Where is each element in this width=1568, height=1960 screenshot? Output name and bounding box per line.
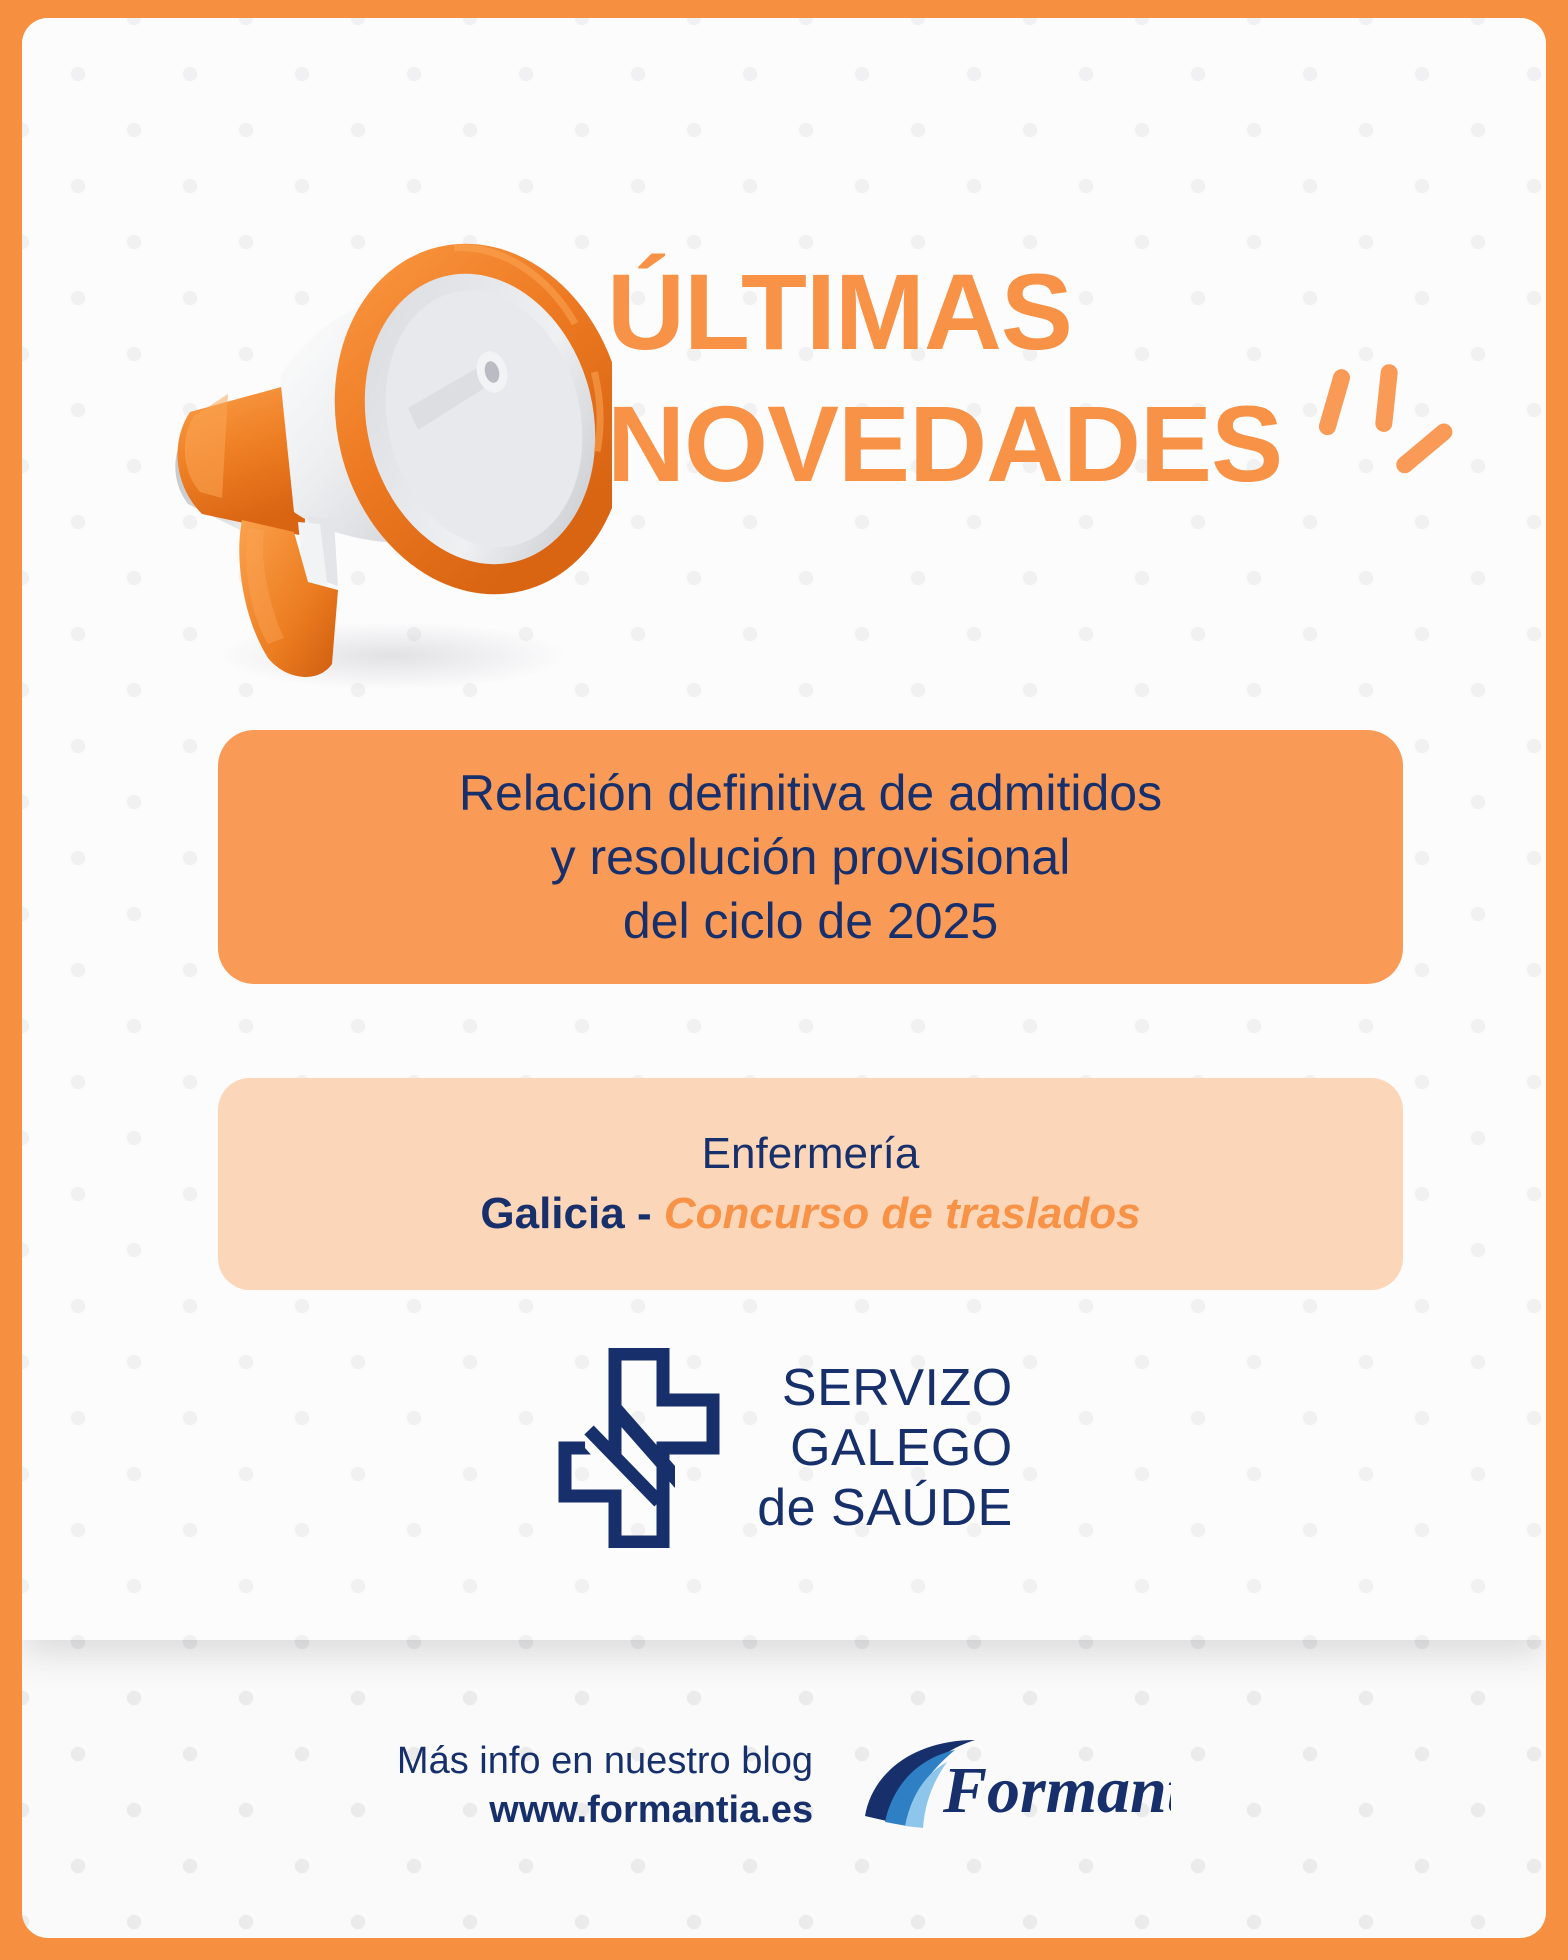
website-url[interactable]: www.formantia.es xyxy=(397,1786,813,1835)
poster-card: ÚLTIMAS NOVEDADES Relación definitiva de… xyxy=(22,18,1546,1938)
banner-line-1: Relación definitiva de admitidos xyxy=(459,761,1162,825)
announcement-text: Relación definitiva de admitidos y resol… xyxy=(419,761,1202,953)
footer-text: Más info en nuestro blog www.formantia.e… xyxy=(397,1737,813,1836)
headline-line-1: ÚLTIMAS xyxy=(607,246,1367,378)
megaphone-icon xyxy=(162,186,612,691)
sergas-cross-icon xyxy=(555,1348,723,1548)
svg-text:Formantia: Formantia xyxy=(942,1754,1171,1827)
formantia-swoosh-logo: Formantia xyxy=(859,1730,1171,1842)
banner-line-3: del ciclo de 2025 xyxy=(459,889,1162,953)
sergas-line-1: SERVIZO xyxy=(757,1358,1012,1418)
page-title: ÚLTIMAS NOVEDADES xyxy=(607,246,1367,510)
hero-section: ÚLTIMAS NOVEDADES xyxy=(22,18,1546,708)
process-label: Concurso de traslados xyxy=(664,1189,1141,1238)
sergas-line-2: GALEGO xyxy=(757,1418,1012,1478)
headline-line-2: NOVEDADES xyxy=(607,378,1367,510)
sergas-logo: SERVIZO GALEGO de SAÚDE xyxy=(22,1348,1546,1548)
sergas-wordmark: SERVIZO GALEGO de SAÚDE xyxy=(757,1358,1012,1539)
footer: Más info en nuestro blog www.formantia.e… xyxy=(22,1730,1546,1842)
poster: ÚLTIMAS NOVEDADES Relación definitiva de… xyxy=(0,0,1568,1960)
region-label: Galicia xyxy=(480,1189,624,1238)
banner-line-2: y resolución provisional xyxy=(459,825,1162,889)
region-process-line: Galicia - Concurso de traslados xyxy=(480,1189,1140,1239)
separator-dash: - xyxy=(637,1189,652,1238)
announcement-banner: Relación definitiva de admitidos y resol… xyxy=(218,730,1403,984)
sergas-line-3: de SAÚDE xyxy=(757,1478,1012,1538)
blog-label: Más info en nuestro blog xyxy=(397,1737,813,1786)
details-box: Enfermería Galicia - Concurso de traslad… xyxy=(218,1078,1403,1290)
sparkle-lines-icon xyxy=(1310,362,1500,512)
specialty-label: Enfermería xyxy=(702,1129,920,1179)
